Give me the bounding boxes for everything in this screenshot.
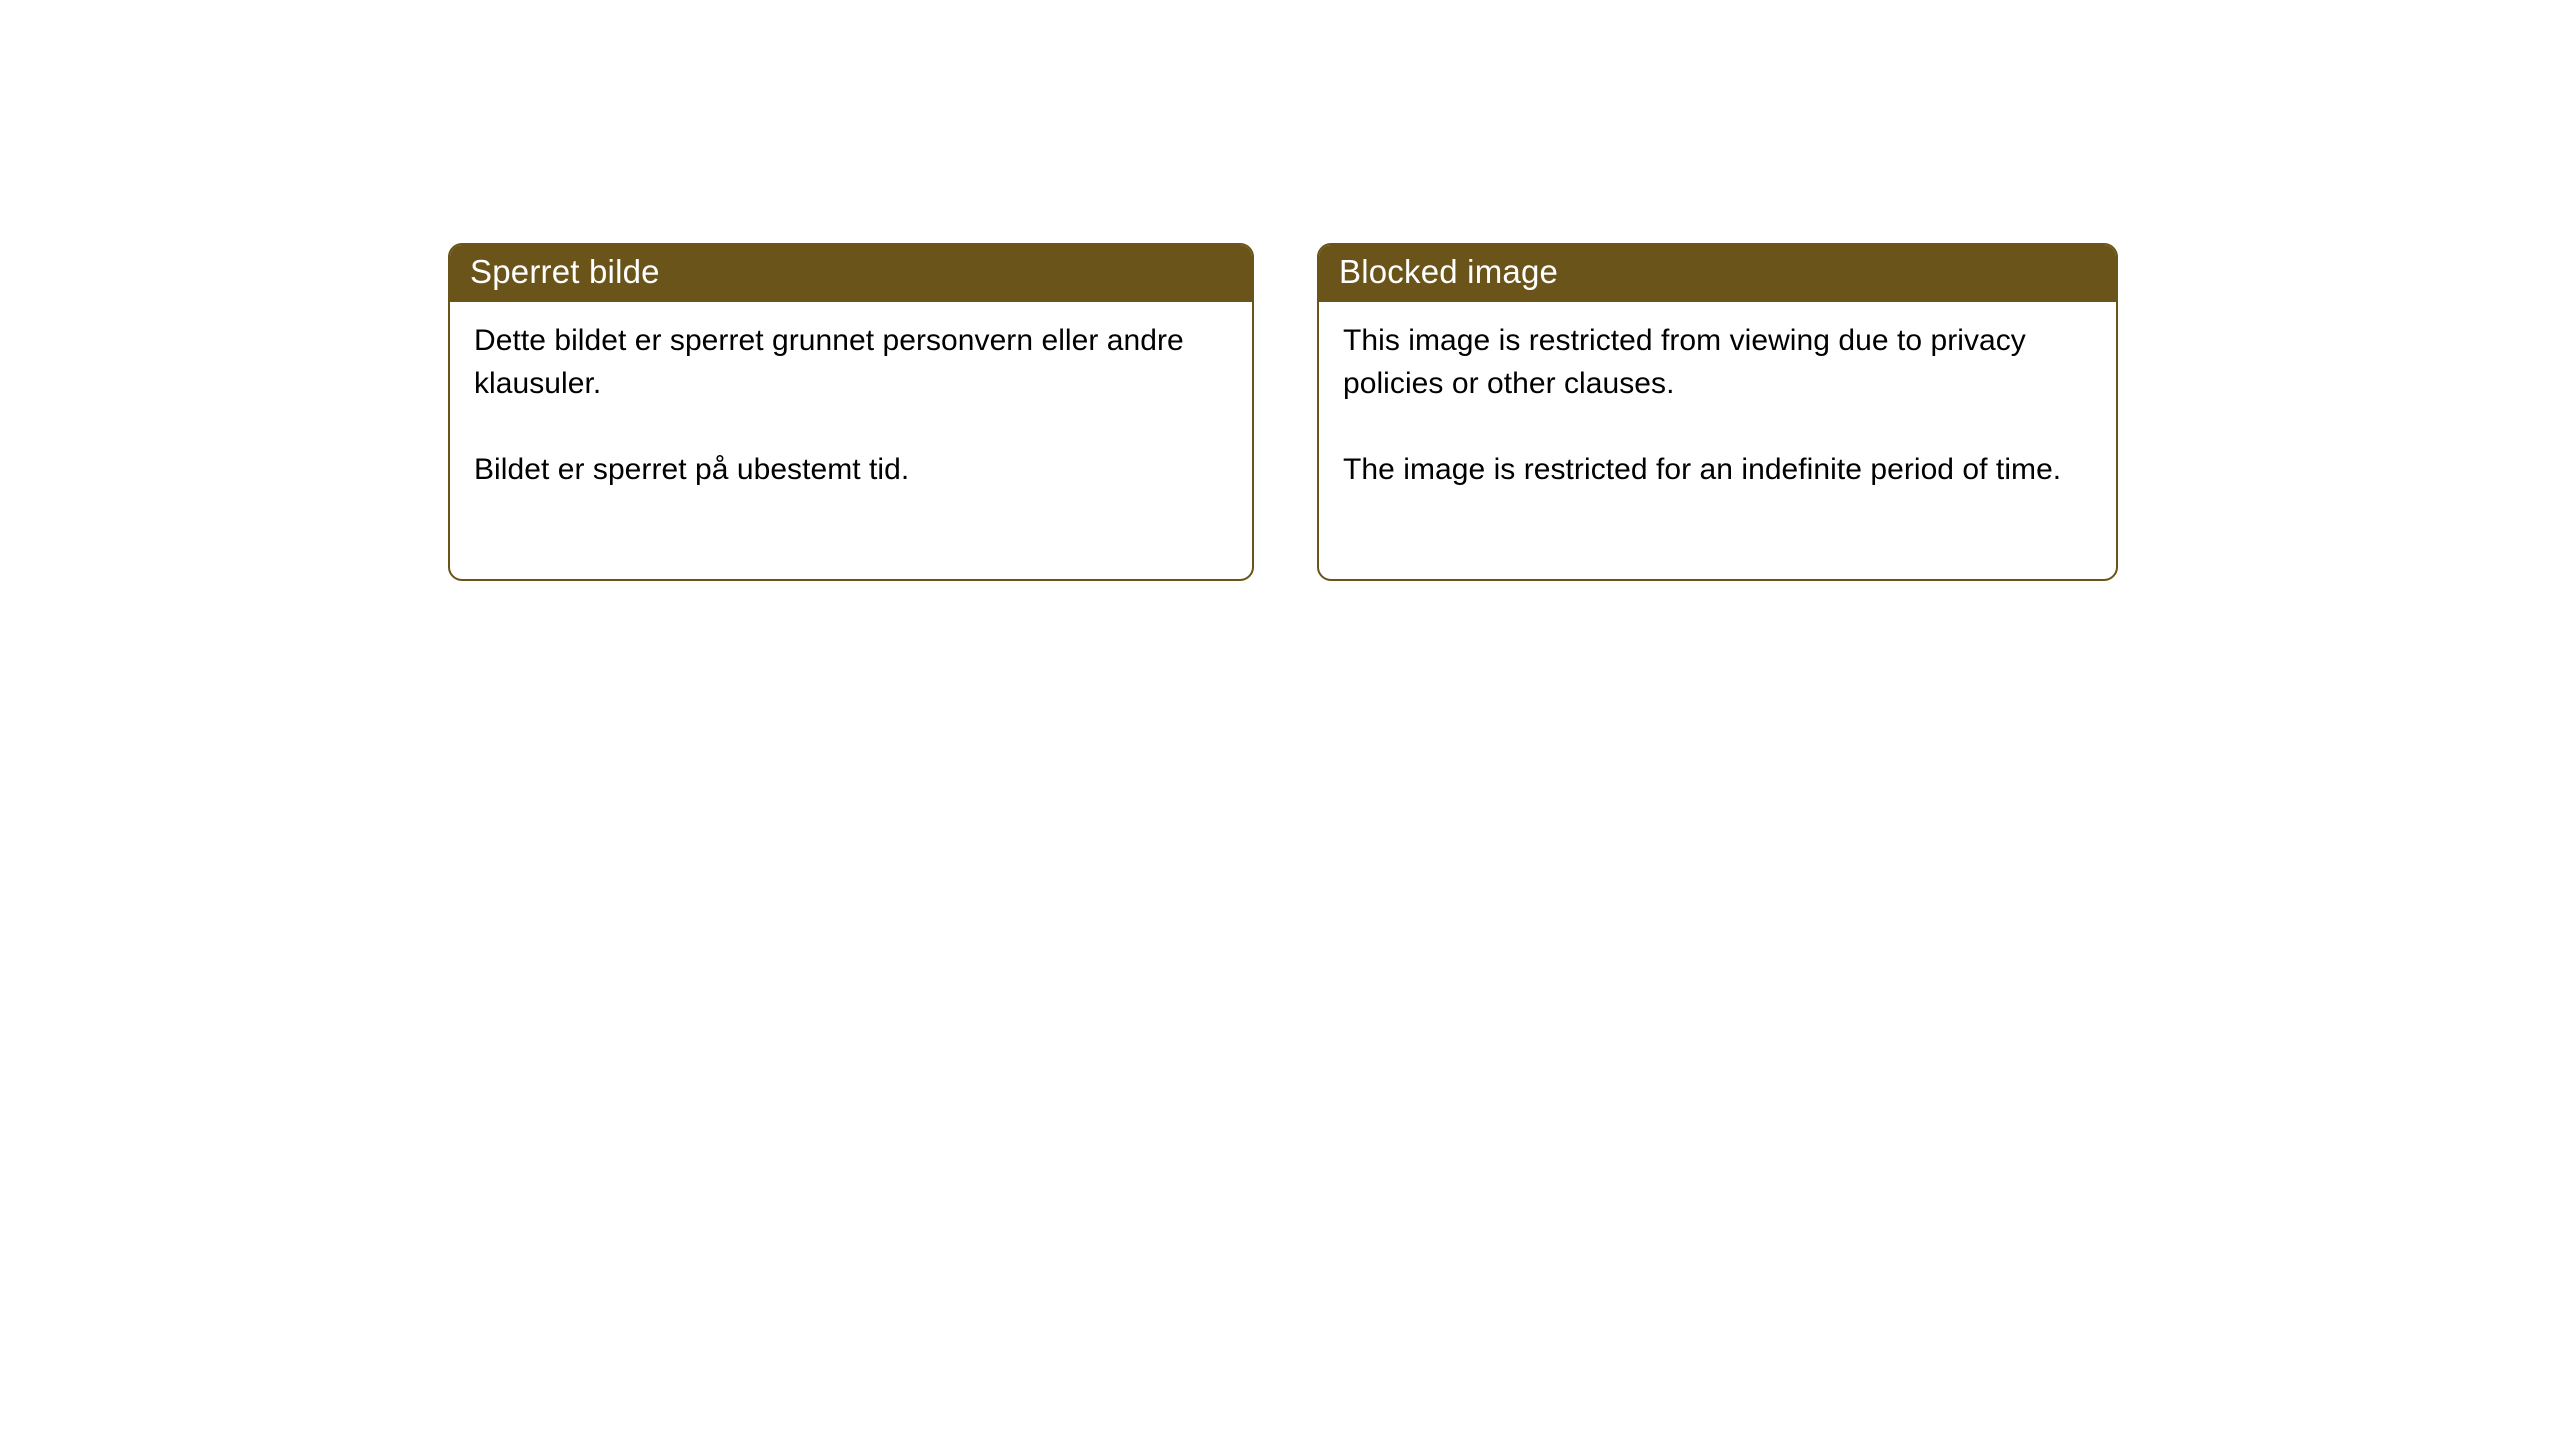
paragraph-spacer-no: [474, 405, 1228, 448]
notice-body-en: This image is restricted from viewing du…: [1319, 302, 2116, 491]
notice-title-en: Blocked image: [1339, 255, 1558, 291]
paragraph-spacer-en: [1343, 405, 2092, 448]
page-root: Sperret bilde Dette bildet er sperret gr…: [0, 0, 2560, 1440]
notice-paragraph-secondary-no: Bildet er sperret på ubestemt tid.: [474, 448, 1228, 491]
notice-header-en: Blocked image: [1317, 243, 2118, 302]
blocked-image-notice-no: Sperret bilde Dette bildet er sperret gr…: [448, 243, 1254, 581]
blocked-image-notice-en: Blocked image This image is restricted f…: [1317, 243, 2118, 581]
notice-paragraph-primary-en: This image is restricted from viewing du…: [1343, 319, 2092, 405]
notice-title-no: Sperret bilde: [470, 255, 660, 291]
notice-header-no: Sperret bilde: [448, 243, 1254, 302]
notice-paragraph-primary-no: Dette bildet er sperret grunnet personve…: [474, 319, 1228, 405]
notice-paragraph-secondary-en: The image is restricted for an indefinit…: [1343, 448, 2092, 491]
notice-body-no: Dette bildet er sperret grunnet personve…: [450, 302, 1252, 491]
